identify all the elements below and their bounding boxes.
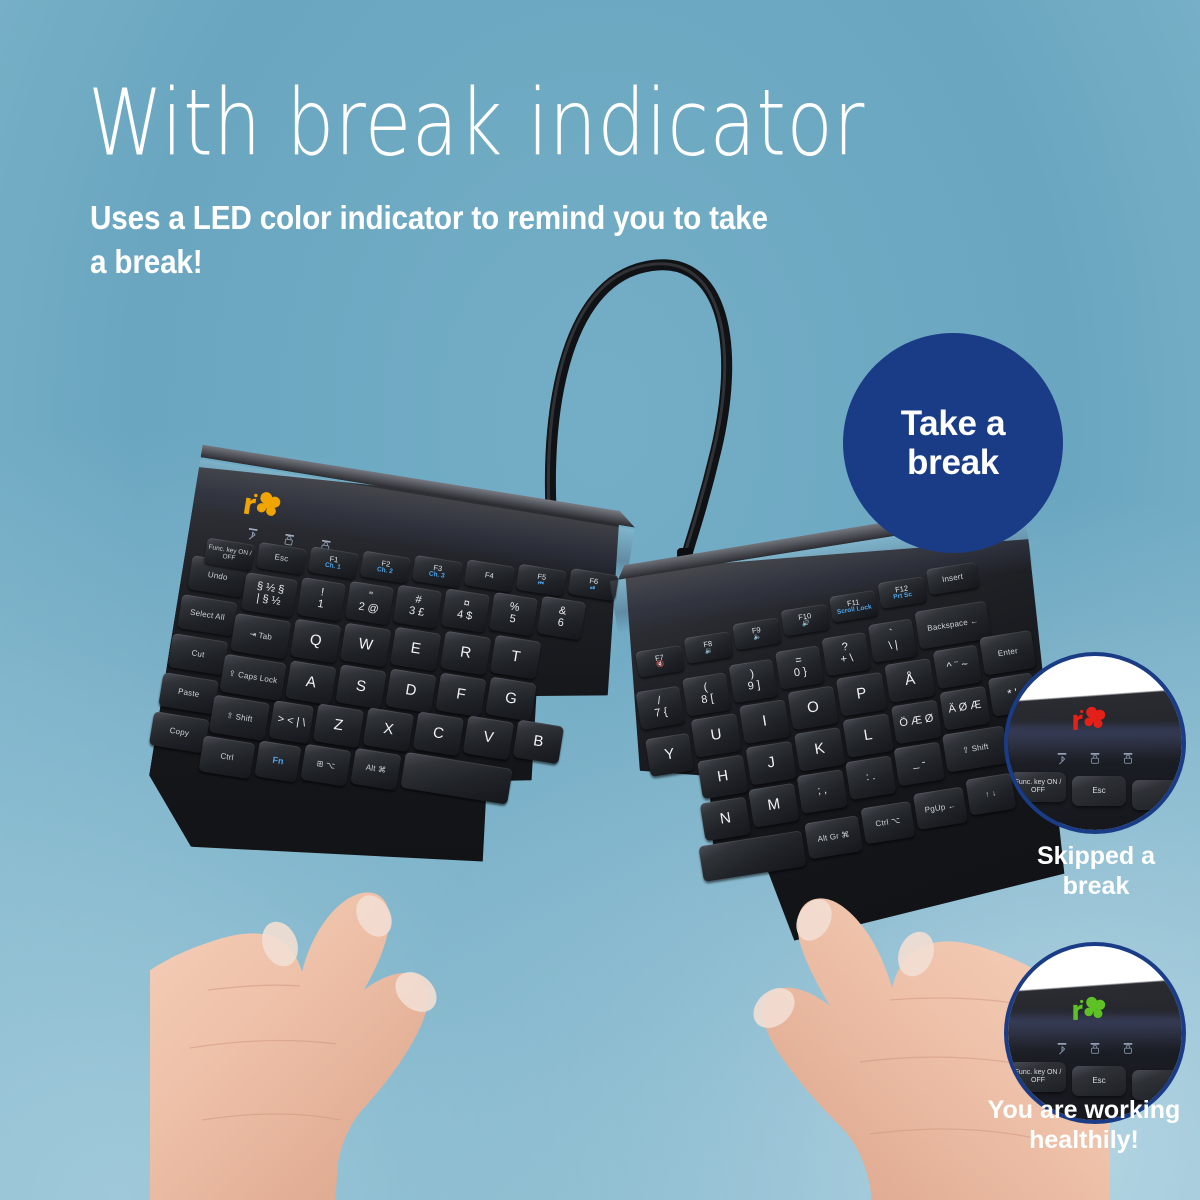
page-subtitle: Uses a LED color indicator to remind you… <box>90 196 774 283</box>
badge-line-1: Take a <box>901 404 1006 443</box>
key-q[interactable]: Q <box>290 619 341 664</box>
key-2[interactable]: "2 @ <box>345 581 395 626</box>
key-v[interactable]: V <box>463 715 514 760</box>
key-a[interactable]: A <box>285 660 336 705</box>
key-y[interactable]: Y <box>645 733 694 777</box>
key-comma[interactable]: ; , <box>797 769 848 814</box>
key-backslash[interactable]: `\ | <box>868 618 917 662</box>
key-0[interactable]: =0 } <box>775 645 824 689</box>
key-ae[interactable]: Ä Ø Æ <box>939 686 990 731</box>
key-r[interactable]: R <box>440 631 491 676</box>
key-adjacent[interactable] <box>1132 780 1186 810</box>
key-6[interactable]: &6 <box>537 596 587 641</box>
key-windows-command[interactable]: ⊞ ⌥ <box>300 744 351 787</box>
key-i[interactable]: I <box>739 699 790 744</box>
key-w[interactable]: W <box>340 623 391 668</box>
key-8[interactable]: (8 [ <box>682 672 731 716</box>
take-a-break-badge[interactable]: Take a break <box>843 333 1063 553</box>
key-fn[interactable]: Fn <box>254 740 301 782</box>
key-4[interactable]: ¤4 $ <box>441 588 491 633</box>
key-g[interactable]: G <box>485 677 536 722</box>
key-n[interactable]: N <box>700 797 751 842</box>
key-j[interactable]: J <box>746 741 797 786</box>
key-t[interactable]: T <box>490 635 541 680</box>
key-e[interactable]: E <box>390 627 441 672</box>
key-func-key-toggle[interactable]: Func. key ON / OFF <box>1010 1062 1066 1092</box>
badge-line-2: break <box>907 443 999 482</box>
key-minus[interactable]: _ - <box>894 742 945 787</box>
key-enter[interactable]: Enter <box>979 630 1036 676</box>
key-alt-left[interactable]: Alt ⌘ <box>350 748 401 791</box>
key-h[interactable]: H <box>697 754 748 799</box>
key-m[interactable]: M <box>748 783 799 828</box>
key-7[interactable]: /7 { <box>636 686 685 730</box>
key-1[interactable]: !1 <box>297 577 347 622</box>
key-aring[interactable]: Å <box>884 658 935 703</box>
key-plus[interactable]: ?+ \ <box>821 632 870 676</box>
inset-keys-skipped: Func. key ON / OFF Esc <box>1008 764 1182 823</box>
key-9[interactable]: )9 ] <box>728 659 777 703</box>
rgo-logo-red <box>1070 703 1120 735</box>
key-section[interactable]: § ½ §| § ½ <box>241 572 298 618</box>
key-c[interactable]: C <box>413 711 464 756</box>
key-p[interactable]: P <box>836 672 887 717</box>
key-3[interactable]: #3 £ <box>393 585 443 630</box>
key-d[interactable]: D <box>385 668 436 713</box>
key-b[interactable]: B <box>513 719 564 764</box>
inset-caption-skipped: Skipped abreak <box>1000 842 1192 901</box>
rgo-logo-green <box>1070 993 1120 1025</box>
key-diaeresis[interactable]: ^ ¨ ~ <box>933 645 982 689</box>
page-title: With break indicator <box>88 78 865 170</box>
key-5[interactable]: %5 <box>489 592 539 637</box>
key-esc[interactable]: Esc <box>1072 776 1126 806</box>
key-oslash[interactable]: Ö Æ Ø <box>891 699 942 744</box>
key-func-key-toggle[interactable]: Func. key ON / OFF <box>1010 772 1066 802</box>
key-u[interactable]: U <box>691 713 742 758</box>
key-x[interactable]: X <box>363 707 414 752</box>
key-k[interactable]: K <box>794 727 845 772</box>
key-l[interactable]: L <box>842 713 893 758</box>
key-less-greater[interactable]: > < | \ <box>269 700 315 744</box>
key-s[interactable]: S <box>335 664 386 709</box>
key-esc[interactable]: Esc <box>1072 1066 1126 1096</box>
keyboard-left-half[interactable]: Undo Select All Cut Paste Copy Func. key… <box>139 443 637 908</box>
inset-caption-healthy: You are workinghealthily! <box>968 1096 1200 1155</box>
bluetooth-led <box>246 528 259 542</box>
poster-canvas: With break indicator Uses a LED color in… <box>0 0 1200 1200</box>
key-period[interactable]: : . <box>845 755 896 800</box>
inset-skipped-a-break[interactable]: Func. key ON / OFF Esc <box>1004 652 1186 834</box>
key-z[interactable]: Z <box>313 703 364 748</box>
key-o[interactable]: O <box>787 686 838 731</box>
key-f[interactable]: F <box>435 672 486 717</box>
